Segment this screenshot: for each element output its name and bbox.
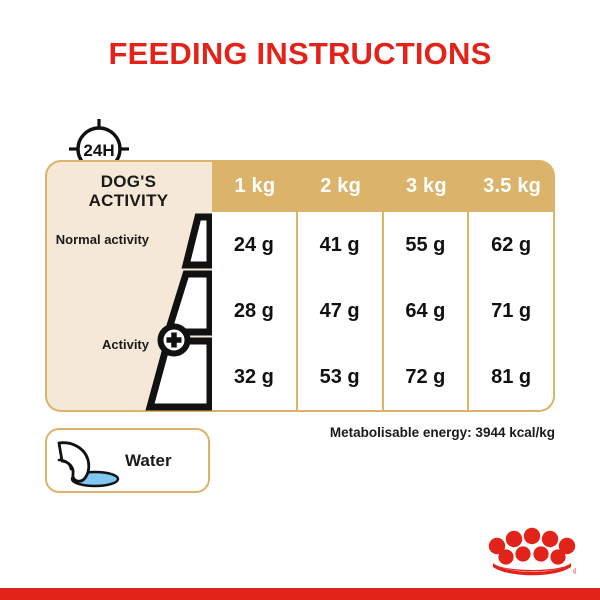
- activity-row-label-3: Activity: [102, 334, 149, 354]
- water-jug-shape: [55, 438, 127, 488]
- data-column-1kg: 24 g 28 g 32 g: [212, 212, 296, 410]
- metabolisable-energy-note: Metabolisable energy: 3944 kcal/kg: [330, 425, 555, 440]
- activity-column-header: DOG'S ACTIVITY: [45, 172, 212, 210]
- crown-icon: ®: [488, 524, 576, 576]
- table-cell: 72 g: [384, 344, 468, 410]
- table-cell: 62 g: [469, 212, 553, 278]
- data-column-2kg: 41 g 47 g 53 g: [296, 212, 382, 410]
- table-cell: 24 g: [212, 212, 296, 278]
- weight-column-headers: 1 kg 2 kg 3 kg 3.5 kg: [212, 160, 555, 212]
- table-cell: 71 g: [469, 278, 553, 344]
- water-label: Water: [125, 451, 172, 471]
- data-column-3kg: 55 g 64 g 72 g: [382, 212, 468, 410]
- table-cell: 28 g: [212, 278, 296, 344]
- activity-header-line2: ACTIVITY: [45, 191, 212, 210]
- bottom-accent-bar: [0, 588, 600, 600]
- table-cell: 32 g: [212, 344, 296, 410]
- table-cell: 55 g: [384, 212, 468, 278]
- table-cell: 47 g: [298, 278, 382, 344]
- column-header-3: 3 kg: [384, 160, 470, 212]
- feeding-amounts-grid: 24 g 28 g 32 g 41 g 47 g 53 g 55 g 64 g …: [212, 212, 555, 412]
- svg-text:®: ®: [573, 567, 576, 576]
- table-cell: 64 g: [384, 278, 468, 344]
- column-header-2: 2 kg: [298, 160, 384, 212]
- table-cell: 41 g: [298, 212, 382, 278]
- water-pouring-icon: [55, 438, 127, 488]
- water-box: Water: [45, 428, 210, 493]
- svg-text:24H: 24H: [83, 141, 114, 160]
- column-header-4: 3.5 kg: [469, 160, 555, 212]
- table-cell: 53 g: [298, 344, 382, 410]
- activity-row-label-1: Normal activity: [56, 229, 149, 249]
- feeding-instructions-page: FEEDING INSTRUCTIONS 24H DOG'S ACTIVITY: [0, 0, 600, 600]
- data-column-35kg: 62 g 71 g 81 g: [467, 212, 553, 410]
- activity-row-labels: Normal activity Activity: [45, 212, 212, 412]
- page-title: FEEDING INSTRUCTIONS: [0, 36, 600, 72]
- table-cell: 81 g: [469, 344, 553, 410]
- feeding-table: DOG'S ACTIVITY Normal activity Activity: [45, 160, 555, 412]
- royal-canin-crown-logo: ®: [488, 524, 576, 576]
- activity-header-line1: DOG'S: [45, 172, 212, 191]
- column-header-1: 1 kg: [212, 160, 298, 212]
